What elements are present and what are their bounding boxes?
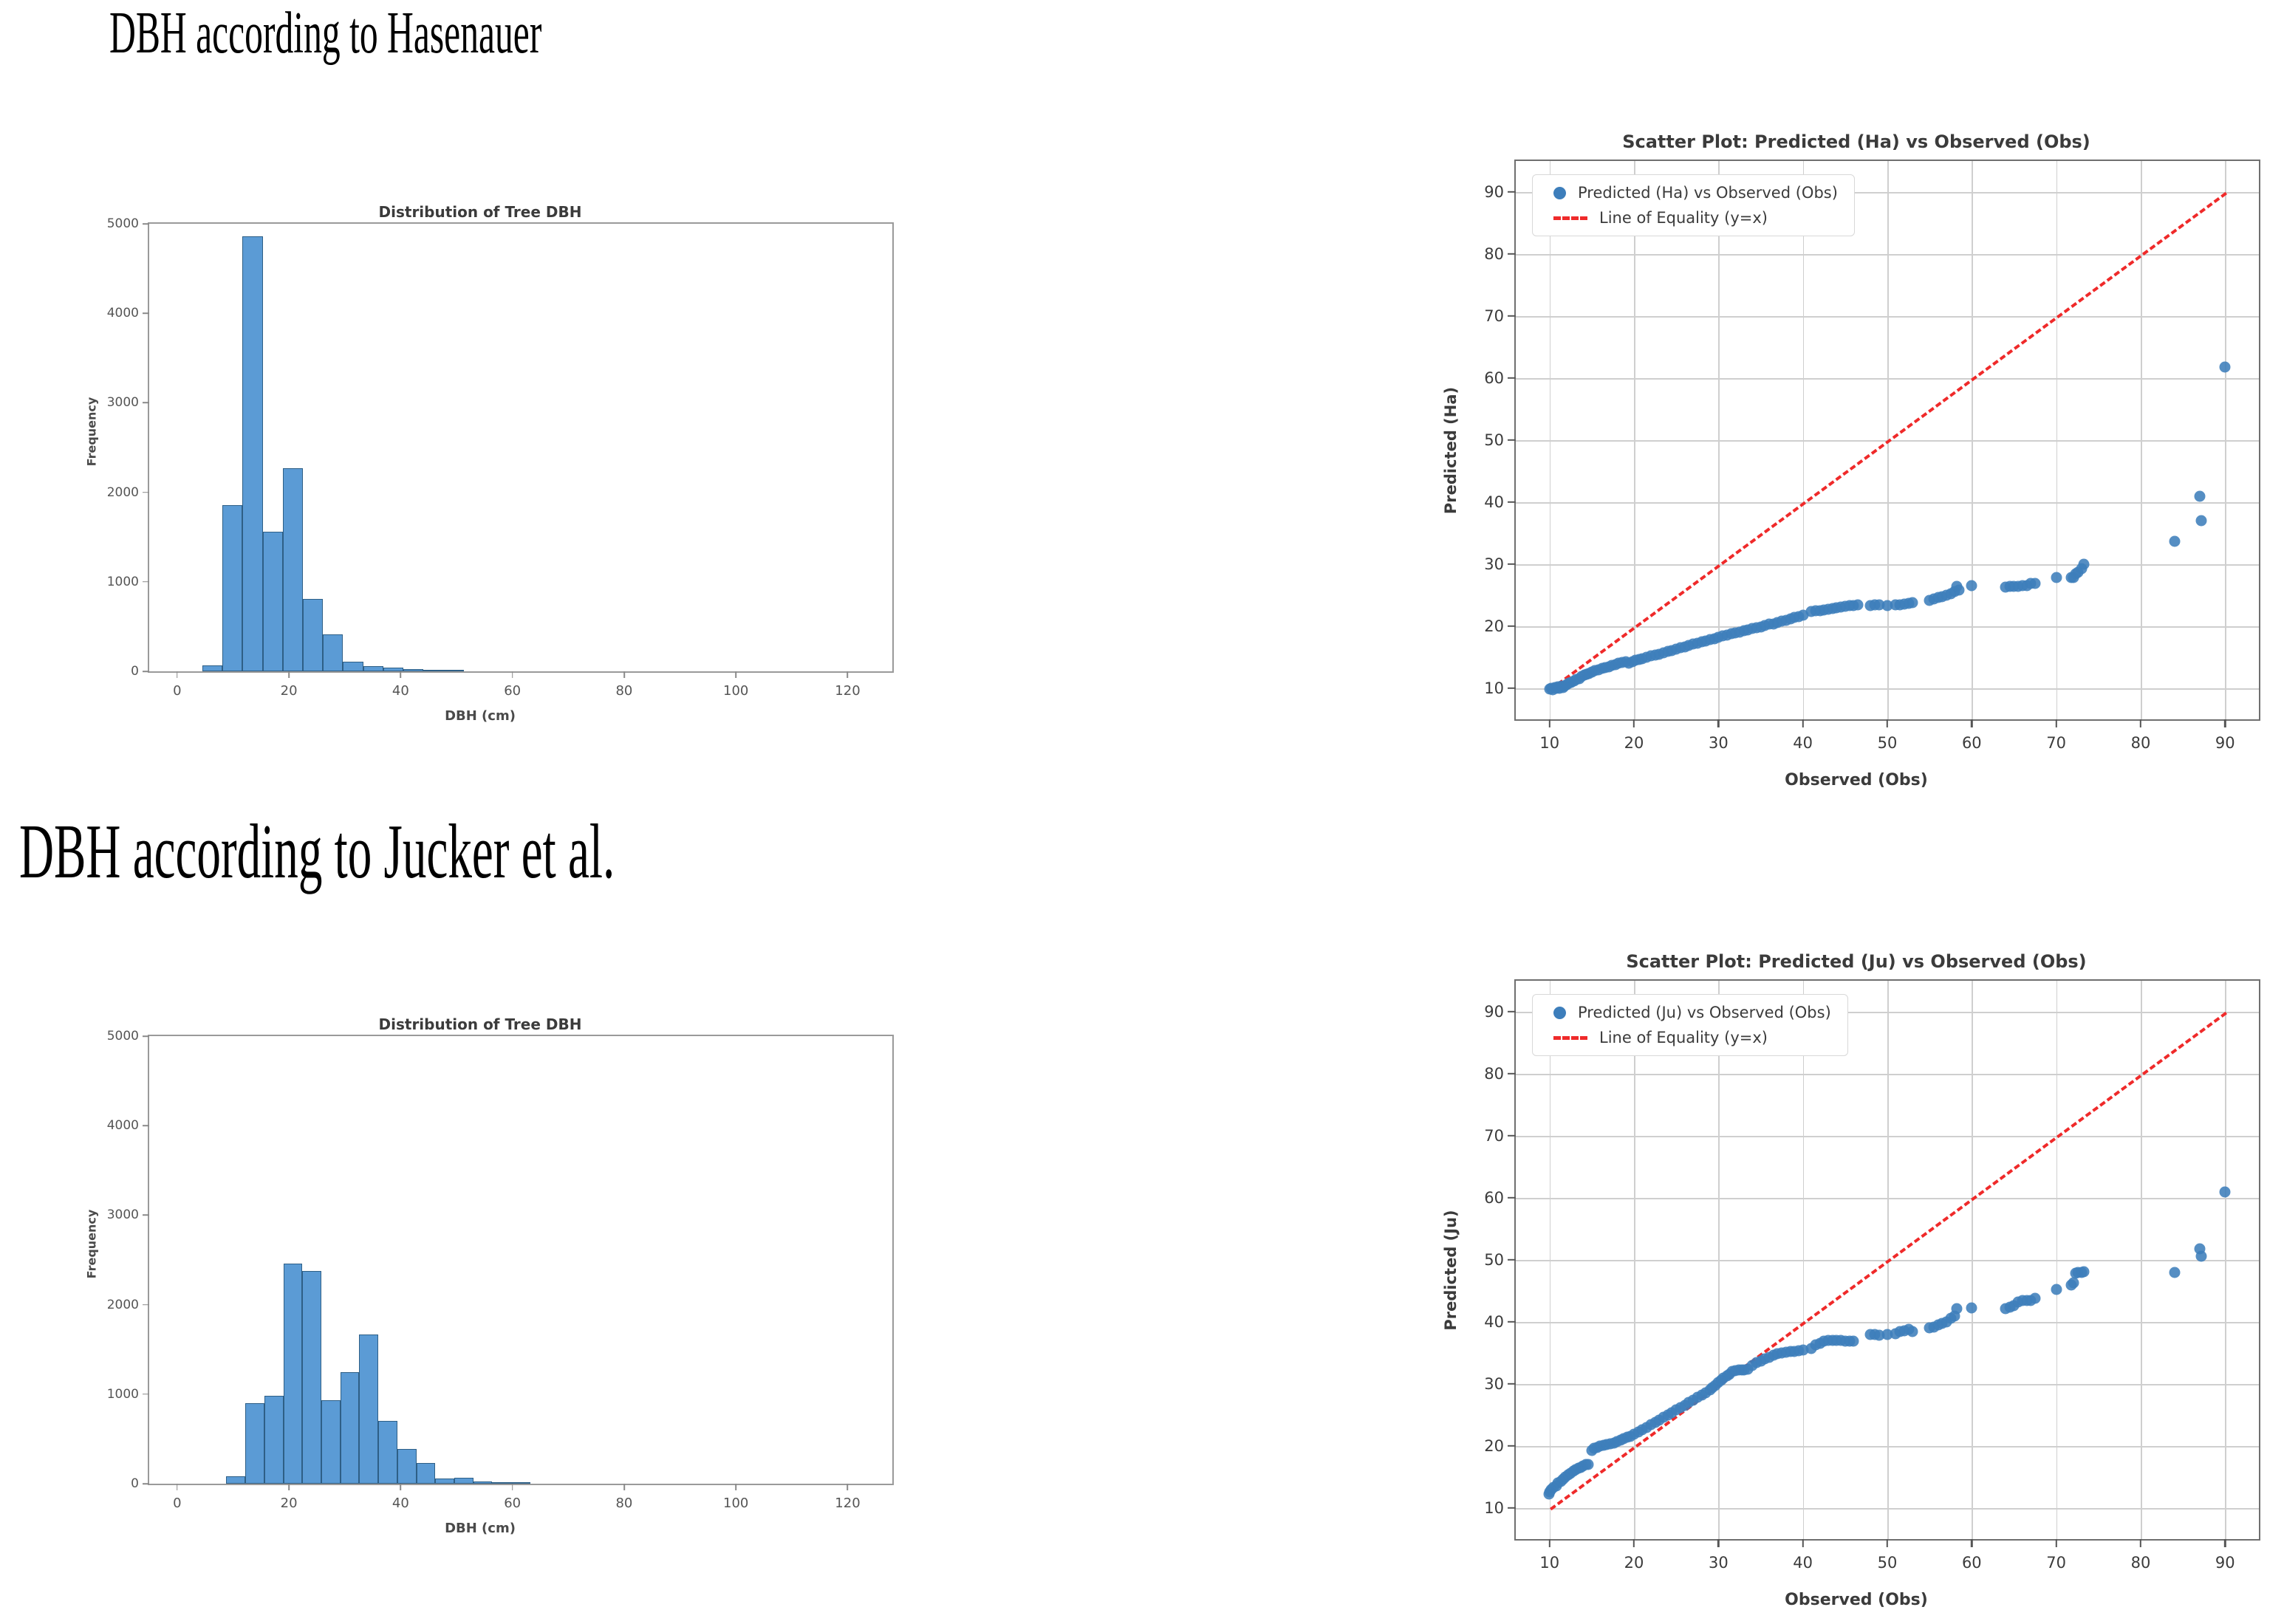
gridline-horizontal	[1516, 1198, 2259, 1199]
legend-item: Predicted (Ha) vs Observed (Obs)	[1543, 184, 1838, 202]
y-tick-label: 5000	[107, 216, 139, 231]
gridline-horizontal	[1516, 1322, 2259, 1323]
histogram-bar	[423, 670, 443, 671]
histogram-bar	[202, 665, 222, 671]
x-tick-label: 70	[2046, 1554, 2066, 1572]
y-tick-mark	[143, 402, 149, 404]
y-tick-mark	[1508, 439, 1516, 441]
x-tick-mark	[2055, 1539, 2056, 1547]
x-tick-mark	[1549, 719, 1550, 727]
histogram-bar	[226, 1476, 245, 1484]
y-tick-label: 1000	[107, 1387, 139, 1402]
scatter-point	[2220, 1187, 2231, 1198]
legend-marker-dashed-line-icon	[1553, 216, 1587, 220]
y-tick-label: 70	[1484, 307, 1504, 325]
x-tick-mark	[512, 1484, 513, 1490]
scatter-point	[2079, 559, 2090, 570]
x-tick-label: 100	[723, 683, 748, 699]
scatter-point	[2220, 361, 2231, 372]
heading-dbh-hasenauer: DBH according to Hasenauer	[109, 0, 541, 67]
y-tick-label: 0	[131, 1476, 139, 1491]
x-tick-label: 30	[1709, 1554, 1729, 1572]
histogram-bar	[454, 1478, 473, 1484]
x-tick-label: 10	[1539, 734, 1559, 752]
legend-label: Line of Equality (y=x)	[1599, 209, 1768, 227]
scatter-point	[1966, 1302, 1977, 1313]
x-tick-label: 120	[835, 1495, 860, 1511]
x-tick-mark	[177, 1484, 178, 1490]
y-axis-label: Predicted (Ju)	[1442, 1210, 1460, 1330]
y-axis-label: Frequency	[85, 397, 99, 467]
x-tick-mark	[2140, 1539, 2141, 1547]
x-tick-mark	[2055, 719, 2056, 727]
histogram-bar	[359, 1335, 378, 1484]
y-tick-mark	[1508, 1321, 1516, 1323]
y-tick-label: 60	[1484, 1189, 1504, 1207]
x-tick-mark	[288, 1484, 290, 1490]
x-tick-mark	[2224, 1539, 2226, 1547]
legend-label: Predicted (Ju) vs Observed (Obs)	[1578, 1004, 1831, 1021]
gridline-horizontal	[1516, 1508, 2259, 1510]
x-tick-label: 80	[2131, 1554, 2151, 1572]
y-tick-label: 4000	[107, 1118, 139, 1133]
histogram-bar	[323, 634, 343, 671]
scatter-point	[2079, 1266, 2090, 1277]
scatter-point	[1954, 585, 1965, 596]
x-tick-mark	[1971, 1539, 1972, 1547]
y-tick-label: 60	[1484, 369, 1504, 387]
y-tick-label: 2000	[107, 485, 139, 500]
histogram-bar	[511, 1482, 530, 1484]
scatter-point	[2169, 535, 2180, 547]
scatter-point	[2030, 1293, 2041, 1304]
y-tick-mark	[143, 1215, 149, 1216]
x-tick-mark	[2140, 719, 2141, 727]
histogram-bar	[473, 1481, 493, 1484]
x-tick-label: 100	[723, 1495, 748, 1511]
x-tick-label: 80	[615, 683, 632, 699]
gridline-horizontal	[1516, 316, 2259, 318]
y-tick-label: 10	[1484, 679, 1504, 697]
scatter-point	[2194, 490, 2205, 501]
y-tick-label: 3000	[107, 1207, 139, 1222]
y-tick-label: 20	[1484, 617, 1504, 635]
x-tick-label: 60	[1962, 734, 1982, 752]
gridline-horizontal	[1516, 254, 2259, 256]
y-tick-label: 30	[1484, 555, 1504, 573]
x-tick-mark	[1633, 719, 1635, 727]
x-axis-label: DBH (cm)	[59, 708, 901, 724]
y-tick-label: 70	[1484, 1127, 1504, 1145]
histogram-bar	[283, 468, 303, 671]
scatter-point	[2196, 515, 2207, 527]
histogram-bar	[492, 1482, 511, 1484]
y-tick-label: 4000	[107, 306, 139, 321]
y-tick-label: 30	[1484, 1375, 1504, 1393]
x-tick-label: 60	[504, 1495, 521, 1511]
scatter-point	[1583, 1459, 1594, 1470]
y-tick-label: 90	[1484, 183, 1504, 201]
scatter-panel-hasenauer: Scatter Plot: Predicted (Ha) vs Observed…	[1432, 131, 2281, 796]
x-tick-mark	[1717, 719, 1719, 727]
x-tick-label: 40	[1793, 1554, 1813, 1572]
y-tick-mark	[143, 1483, 149, 1484]
histogram-bar	[284, 1264, 303, 1484]
x-tick-mark	[1887, 719, 1888, 727]
bar-series	[149, 224, 892, 671]
x-tick-mark	[1802, 719, 1803, 727]
x-tick-label: 80	[615, 1495, 632, 1511]
gridline-horizontal	[1516, 1074, 2259, 1075]
x-axis-label: Observed (Obs)	[1432, 771, 2281, 789]
histogram-bar	[222, 505, 242, 671]
x-tick-label: 40	[392, 683, 409, 699]
x-tick-label: 90	[2215, 734, 2235, 752]
y-tick-label: 20	[1484, 1437, 1504, 1455]
legend-item: Line of Equality (y=x)	[1543, 209, 1838, 227]
legend-marker-dot-icon	[1553, 1007, 1566, 1019]
gridline-horizontal	[1516, 502, 2259, 504]
y-tick-mark	[1508, 1445, 1516, 1447]
histogram-panel-jucker: Distribution of Tree DBH0100020003000400…	[59, 1015, 901, 1547]
x-tick-label: 80	[2131, 734, 2151, 752]
gridline-horizontal	[1516, 1446, 2259, 1447]
histogram-bar	[303, 599, 323, 671]
scatter-point	[2196, 1250, 2207, 1261]
y-tick-mark	[143, 312, 149, 314]
y-tick-label: 40	[1484, 493, 1504, 511]
y-tick-label: 80	[1484, 245, 1504, 263]
y-tick-mark	[1508, 1073, 1516, 1075]
chart-title: Distribution of Tree DBH	[59, 203, 901, 221]
histogram-bar	[302, 1271, 321, 1484]
histogram-bar	[378, 1421, 397, 1484]
y-tick-mark	[143, 671, 149, 672]
y-tick-mark	[1508, 501, 1516, 503]
gridline-horizontal	[1516, 1136, 2259, 1137]
x-tick-mark	[400, 671, 402, 678]
y-tick-label: 90	[1484, 1003, 1504, 1021]
x-tick-label: 50	[1878, 734, 1898, 752]
chart-title: Scatter Plot: Predicted (Ha) vs Observed…	[1432, 131, 2281, 152]
legend-item: Line of Equality (y=x)	[1543, 1029, 1831, 1046]
x-tick-mark	[1717, 1539, 1719, 1547]
x-tick-label: 60	[504, 683, 521, 699]
histogram-bar	[245, 1403, 264, 1484]
y-tick-label: 10	[1484, 1499, 1504, 1517]
y-tick-label: 3000	[107, 395, 139, 410]
y-tick-label: 50	[1484, 431, 1504, 449]
histogram-bar	[363, 666, 383, 671]
histogram-bar	[341, 1372, 360, 1484]
legend-marker-dashed-line-icon	[1553, 1036, 1587, 1040]
x-tick-mark	[623, 671, 625, 678]
x-tick-mark	[735, 1484, 736, 1490]
x-tick-mark	[177, 671, 178, 678]
x-axis-label: Observed (Obs)	[1432, 1591, 2281, 1609]
y-tick-mark	[1508, 315, 1516, 317]
y-tick-mark	[143, 1035, 149, 1037]
x-tick-mark	[623, 1484, 625, 1490]
scatter-point	[1848, 1336, 1859, 1347]
x-tick-mark	[1549, 1539, 1550, 1547]
gridline-horizontal	[1516, 1384, 2259, 1385]
y-tick-mark	[1508, 253, 1516, 255]
y-tick-mark	[143, 223, 149, 225]
gridline-horizontal	[1516, 378, 2259, 380]
chart-legend: Predicted (Ju) vs Observed (Obs)Line of …	[1532, 994, 1848, 1056]
y-tick-mark	[1508, 563, 1516, 565]
histogram-bar	[242, 236, 262, 671]
y-tick-mark	[1508, 1259, 1516, 1261]
x-tick-label: 20	[1624, 734, 1644, 752]
plot-frame: 010002000300040005000020406080100120	[148, 1035, 894, 1485]
scatter-point	[2169, 1267, 2180, 1278]
legend-label: Predicted (Ha) vs Observed (Obs)	[1578, 184, 1838, 202]
chart-title: Scatter Plot: Predicted (Ju) vs Observed…	[1432, 951, 2281, 972]
x-tick-label: 10	[1539, 1554, 1559, 1572]
x-tick-label: 20	[281, 1495, 298, 1511]
y-tick-mark	[143, 1394, 149, 1395]
y-tick-label: 0	[131, 664, 139, 679]
x-tick-mark	[1971, 719, 1972, 727]
histogram-bar	[263, 532, 283, 671]
histogram-bar	[397, 1449, 417, 1484]
y-axis-label: Predicted (Ha)	[1442, 387, 1460, 514]
y-tick-mark	[143, 492, 149, 493]
y-tick-label: 50	[1484, 1251, 1504, 1269]
plot-frame: 010002000300040005000020406080100120	[148, 222, 894, 673]
chart-title: Distribution of Tree DBH	[59, 1015, 901, 1033]
scatter-panel-jucker: Scatter Plot: Predicted (Ju) vs Observed…	[1432, 951, 2281, 1616]
y-tick-mark	[1508, 1011, 1516, 1013]
scatter-point	[1852, 600, 1863, 611]
y-tick-mark	[1508, 377, 1516, 379]
histogram-bar	[417, 1463, 436, 1484]
y-tick-mark	[143, 1125, 149, 1126]
plot-area	[1516, 161, 2259, 719]
histogram-bar	[343, 662, 363, 671]
x-tick-label: 90	[2215, 1554, 2235, 1572]
y-tick-mark	[143, 1304, 149, 1306]
y-tick-mark	[1508, 1383, 1516, 1385]
chart-legend: Predicted (Ha) vs Observed (Obs)Line of …	[1532, 174, 1855, 236]
scatter-point	[1951, 1303, 1962, 1314]
y-tick-mark	[1508, 688, 1516, 689]
y-tick-mark	[1508, 1135, 1516, 1137]
y-axis-label: Frequency	[85, 1210, 99, 1279]
gridline-horizontal	[1516, 564, 2259, 566]
x-tick-label: 20	[1624, 1554, 1644, 1572]
y-tick-mark	[1508, 1197, 1516, 1199]
heading-dbh-jucker: DBH according to Jucker et al.	[19, 806, 615, 896]
y-tick-label: 2000	[107, 1298, 139, 1312]
x-tick-mark	[2224, 719, 2226, 727]
scatter-point	[1907, 597, 1918, 609]
x-tick-mark	[288, 671, 290, 678]
x-tick-label: 0	[173, 1495, 181, 1511]
x-tick-label: 60	[1962, 1554, 1982, 1572]
y-tick-mark	[1508, 1507, 1516, 1509]
x-tick-label: 40	[392, 1495, 409, 1511]
y-tick-mark	[143, 581, 149, 583]
histogram-bar	[435, 1479, 454, 1484]
x-tick-mark	[1633, 1539, 1635, 1547]
y-tick-mark	[1508, 626, 1516, 627]
scatter-point	[1966, 580, 1977, 592]
y-tick-label: 1000	[107, 575, 139, 589]
x-tick-mark	[847, 671, 849, 678]
scatter-point	[2030, 578, 2041, 589]
x-tick-mark	[1802, 1539, 1803, 1547]
bar-series	[149, 1036, 892, 1484]
x-tick-mark	[1887, 1539, 1888, 1547]
plot-area	[1516, 981, 2259, 1539]
x-tick-mark	[847, 1484, 849, 1490]
y-tick-label: 40	[1484, 1313, 1504, 1331]
histogram-panel-hasenauer: Distribution of Tree DBH0100020003000400…	[59, 203, 901, 735]
histogram-bar	[403, 669, 423, 671]
x-tick-label: 70	[2046, 734, 2066, 752]
histogram-bar	[444, 670, 464, 671]
legend-item: Predicted (Ju) vs Observed (Obs)	[1543, 1004, 1831, 1021]
x-tick-label: 20	[281, 683, 298, 699]
scatter-point	[2068, 1278, 2079, 1289]
x-tick-label: 40	[1793, 734, 1813, 752]
x-tick-mark	[735, 671, 736, 678]
x-axis-label: DBH (cm)	[59, 1521, 901, 1536]
scatter-point	[1907, 1326, 1918, 1337]
x-tick-label: 0	[173, 683, 181, 699]
y-tick-label: 80	[1484, 1065, 1504, 1083]
x-tick-label: 30	[1709, 734, 1729, 752]
x-tick-label: 50	[1878, 1554, 1898, 1572]
plot-frame: 102030405060708090102030405060708090Pred…	[1514, 160, 2260, 721]
gridline-horizontal	[1516, 626, 2259, 628]
y-tick-mark	[1508, 191, 1516, 193]
histogram-bar	[264, 1396, 284, 1484]
histogram-bar	[321, 1400, 341, 1484]
scatter-point	[2051, 1284, 2062, 1295]
legend-label: Line of Equality (y=x)	[1599, 1029, 1768, 1046]
x-tick-mark	[512, 671, 513, 678]
x-tick-label: 120	[835, 683, 860, 699]
x-tick-mark	[400, 1484, 402, 1490]
scatter-point	[2051, 572, 2062, 583]
plot-frame: 102030405060708090102030405060708090Pred…	[1514, 979, 2260, 1541]
y-tick-label: 5000	[107, 1029, 139, 1044]
gridline-horizontal	[1516, 688, 2259, 690]
legend-marker-dot-icon	[1553, 187, 1566, 199]
